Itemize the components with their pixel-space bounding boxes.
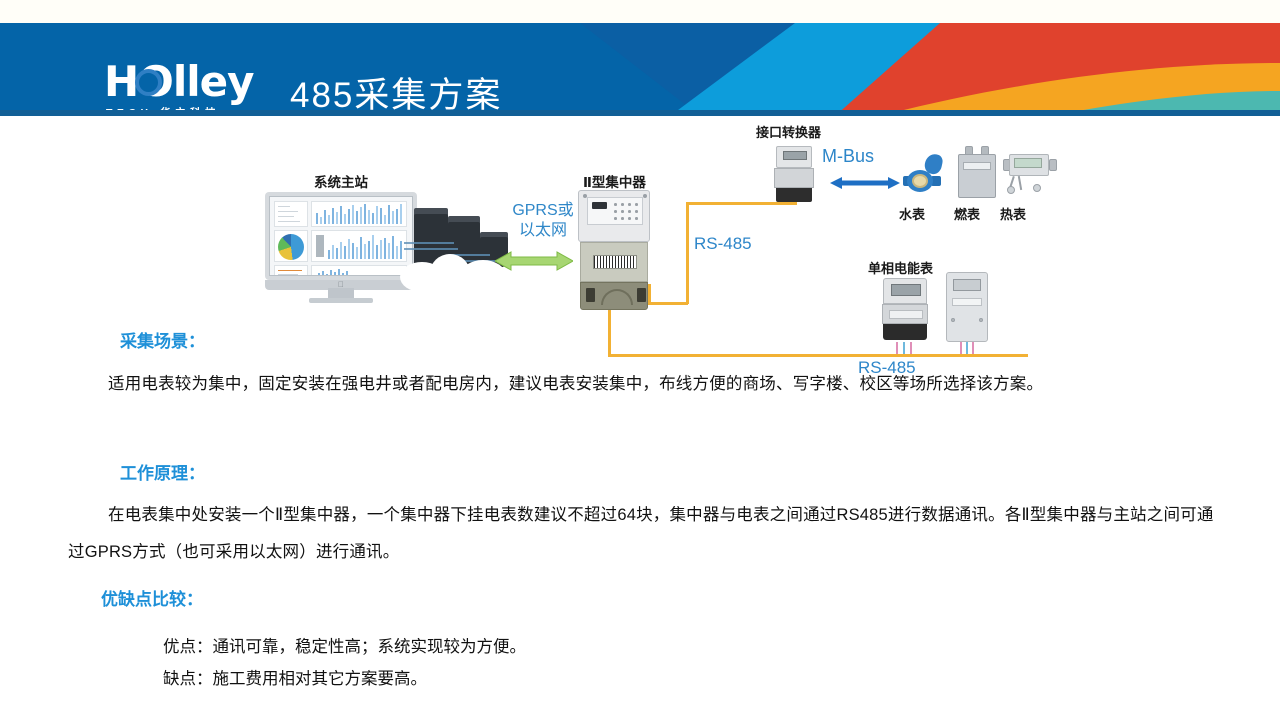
rs485-wire-segment — [608, 354, 1028, 357]
single-phase-meter-icon — [882, 278, 928, 342]
converter-top — [776, 146, 812, 168]
server-cluster — [404, 202, 524, 294]
logo-wordmark: HOlley — [104, 61, 254, 103]
barcode-icon — [593, 255, 637, 269]
label-master-station: 系统主站 — [314, 171, 368, 191]
water-meter-icon — [903, 154, 943, 198]
concentrator-upper-module — [578, 190, 650, 242]
label-interface-converter: 接口转换器 — [756, 122, 821, 141]
concentrator-display — [592, 202, 607, 209]
label-gas-meter: 燃表 — [954, 204, 980, 223]
monitor-stand-base — [309, 298, 373, 303]
terminal-cover-arc — [601, 289, 633, 305]
label-single-phase-meter: 单相电能表 — [868, 258, 933, 277]
label-heat-meter: 热表 — [1000, 204, 1026, 223]
comparison-pros: 优点：通讯可靠，稳定性高；系统实现较为方便。 — [163, 633, 526, 657]
holley-logo: HOlley TECH 华立科技 — [104, 61, 264, 116]
concentrator-panel — [587, 197, 643, 225]
slide-header: HOlley TECH 华立科技 485采集方案 — [0, 23, 1280, 116]
concentrator-device — [578, 190, 650, 312]
label-concentrator: Ⅱ型集中器 — [583, 171, 646, 191]
logo-o-ring-icon — [135, 69, 162, 96]
gprs-line-2: 以太网 — [519, 222, 567, 239]
heat-meter-icon — [1003, 150, 1057, 198]
link-label-mbus: M-Bus — [822, 146, 874, 167]
converter-terminal — [776, 188, 812, 202]
rs485-wire-segment — [608, 310, 611, 356]
dashboard-panel-trend — [311, 265, 407, 276]
section-body-principle: 在电表集中处安装一个Ⅱ型集中器，一个集中器下挂电表数建议不超过64块，集中器与电… — [68, 497, 1220, 571]
single-phase-meter-icon — [946, 272, 988, 342]
mbus-bidirectional-arrow-icon — [830, 176, 900, 190]
gprs-line-1: GPRS或 — [512, 202, 573, 219]
rs485-wire-segment — [648, 302, 688, 305]
monitor-frame — [265, 192, 417, 280]
comparison-cons: 缺点：施工费用相对其它方案要高。 — [163, 665, 427, 689]
master-station-monitor:  — [265, 192, 417, 304]
monitor-screen — [269, 196, 413, 276]
concentrator-terminal-block — [580, 282, 648, 310]
slide-page: HOlley TECH 华立科技 485采集方案 系统主站 Ⅱ型集中器 接口转换… — [0, 0, 1280, 720]
interface-converter-device — [774, 146, 814, 204]
section-heading-comparison: 优缺点比较： — [101, 585, 203, 610]
rs485-wire-segment — [686, 202, 689, 304]
header-swoosh-graphic — [580, 23, 1280, 116]
dashboard-panel-list — [274, 265, 308, 276]
gas-meter-icon — [958, 146, 996, 198]
dashboard-pie-chart — [274, 230, 308, 262]
gprs-bidirectional-arrow-icon — [495, 250, 573, 272]
dashboard-bar-chart — [311, 201, 407, 227]
section-heading-principle: 工作原理： — [120, 459, 205, 484]
link-label-rs485-upper: RS-485 — [694, 234, 752, 254]
section-heading-scenario: 采集场景： — [120, 327, 205, 352]
rs485-wire-segment — [794, 202, 797, 205]
converter-middle — [774, 168, 814, 188]
page-title: 485采集方案 — [290, 67, 502, 116]
link-label-gprs: GPRS或 以太网 — [510, 201, 576, 241]
top-strip — [0, 0, 1280, 23]
converter-display — [783, 151, 807, 160]
rs485-wire-segment — [686, 202, 796, 205]
concentrator-middle-module — [580, 242, 648, 282]
dashboard-panel — [274, 201, 308, 227]
section-body-scenario: 适用电表较为集中，固定安装在强电井或者配电房内，建议电表安装集中，布线方便的商场… — [68, 366, 1213, 403]
dashboard-bar-chart-2 — [311, 230, 407, 262]
label-water-meter: 水表 — [899, 204, 925, 223]
rs485-wire-segment — [648, 284, 651, 304]
